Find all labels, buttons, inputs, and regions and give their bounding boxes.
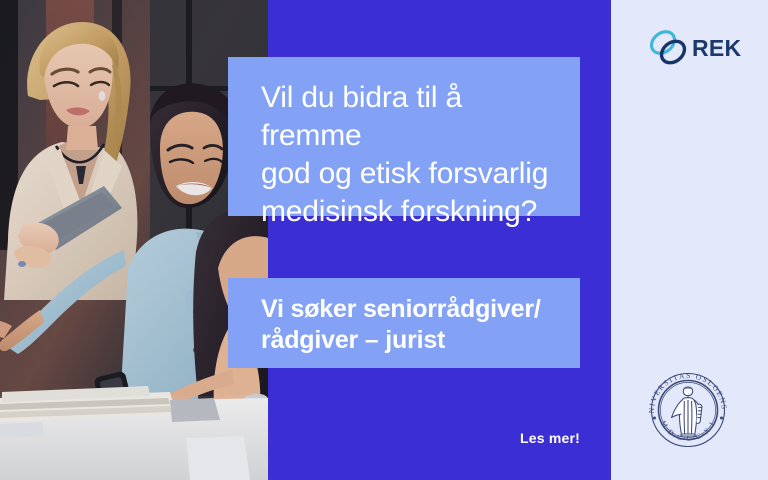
interlocking-rings-icon	[648, 27, 690, 69]
headline-box: Vil du bidra til å fremme god og etisk f…	[228, 57, 580, 216]
job-title-box: Vi søker seniorrådgiver/ rådgiver – juri…	[228, 278, 580, 368]
rek-wordmark: REK	[692, 37, 741, 60]
job-title-text: Vi søker seniorrådgiver/ rådgiver – juri…	[261, 294, 556, 356]
headline-text: Vil du bidra til å fremme god og etisk f…	[261, 79, 552, 231]
campaign-banner: Vil du bidra til å fremme god og etisk f…	[0, 0, 768, 480]
rek-logo[interactable]: REK	[648, 25, 740, 71]
read-more-link[interactable]: Les mer!	[432, 430, 580, 446]
apollo-with-lyre-icon	[672, 387, 703, 436]
uio-seal: UNIVERSITAS OSLOENSIS M·D·C·C·C·X·I	[638, 360, 738, 460]
